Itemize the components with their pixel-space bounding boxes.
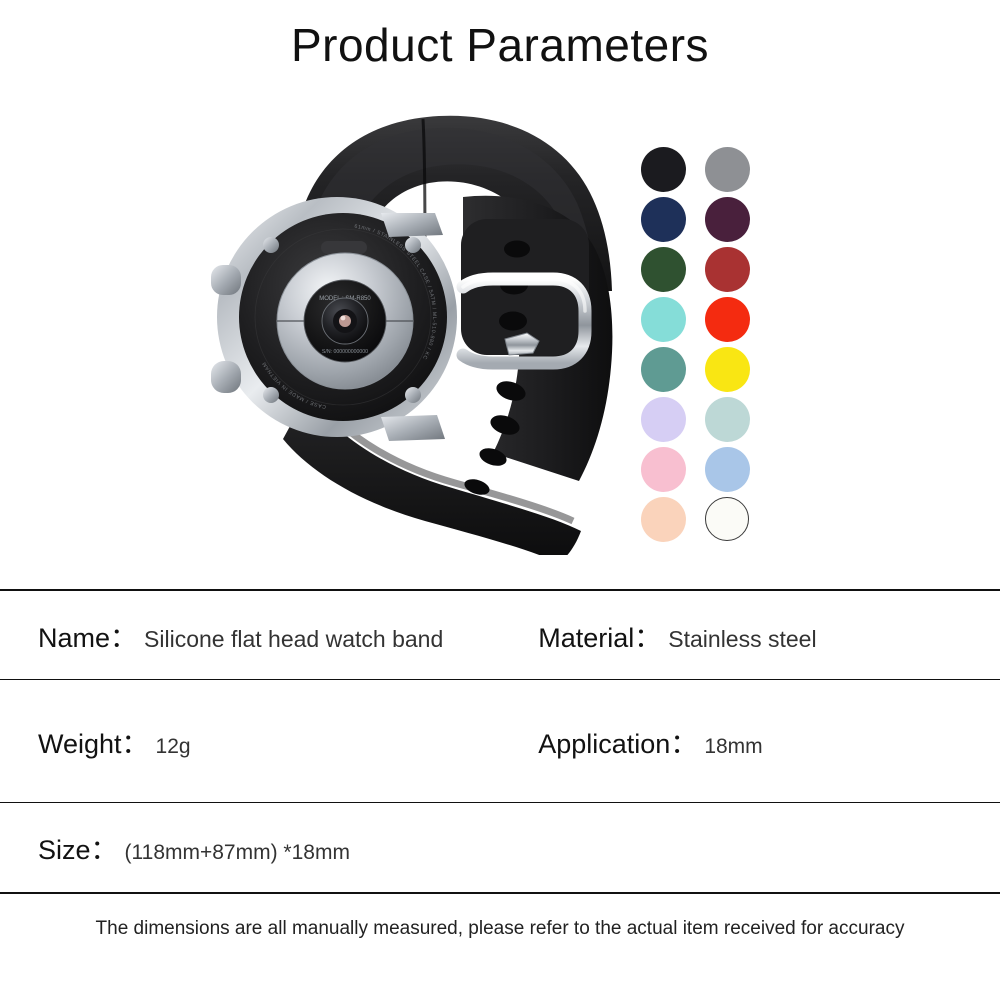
case-lug-top xyxy=(381,213,443,237)
watch-button-bottom xyxy=(211,361,241,393)
color-swatch-peach[interactable] xyxy=(641,497,686,542)
case-sensor-slot xyxy=(321,241,367,254)
color-swatch-mint-aqua[interactable] xyxy=(641,297,686,342)
color-swatch-dark-green[interactable] xyxy=(641,247,686,292)
spec-row-weight-application: Weight： 12g Application： 18mm xyxy=(0,680,1000,802)
spec-cell-weight: Weight： 12g xyxy=(0,722,538,761)
color-swatch-sea-teal[interactable] xyxy=(641,347,686,392)
divider-bottom xyxy=(0,892,1000,894)
case-screw xyxy=(263,387,279,403)
color-swatch-lavender[interactable] xyxy=(641,397,686,442)
case-screw xyxy=(405,237,421,253)
color-swatch-white[interactable] xyxy=(705,497,749,541)
spec-row-size: Size： (118mm+87mm) *18mm xyxy=(0,803,1000,892)
color-swatch-pale-cyan[interactable] xyxy=(705,397,750,442)
measurement-disclaimer: The dimensions are all manually measured… xyxy=(0,918,1000,940)
spec-label-application: Application： xyxy=(538,722,697,761)
watch-band-illustration: 61mm / STAINLESS STEEL CASE / 5ATM / ML-… xyxy=(175,95,645,555)
case-screw xyxy=(405,387,421,403)
spec-value-weight: 12g xyxy=(156,735,191,759)
product-image: 61mm / STAINLESS STEEL CASE / 5ATM / ML-… xyxy=(175,95,645,555)
spec-cell-material: Material： Stainless steel xyxy=(538,616,1000,655)
strap-hole xyxy=(504,241,530,258)
strap-hole xyxy=(499,312,527,331)
spec-label-size: Size： xyxy=(38,828,118,867)
color-swatch-plum-purple[interactable] xyxy=(705,197,750,242)
spec-cell-application: Application： 18mm xyxy=(538,722,1000,761)
spec-label-weight: Weight： xyxy=(38,722,149,761)
page-title: Product Parameters xyxy=(0,22,1000,68)
color-swatch-bright-red[interactable] xyxy=(705,297,750,342)
color-swatch-brick-red[interactable] xyxy=(705,247,750,292)
spec-table: Name： Silicone flat head watch band Mate… xyxy=(0,589,1000,894)
spec-label-name: Name： xyxy=(38,616,137,655)
color-swatch-grey[interactable] xyxy=(705,147,750,192)
spec-row-name-material: Name： Silicone flat head watch band Mate… xyxy=(0,591,1000,679)
spec-cell-size: Size： (118mm+87mm) *18mm xyxy=(0,828,558,867)
color-swatch-sky-blue[interactable] xyxy=(705,447,750,492)
color-swatch-pink[interactable] xyxy=(641,447,686,492)
color-swatch-grid[interactable] xyxy=(641,147,753,542)
watch-button-top xyxy=(211,265,241,295)
spec-value-name: Silicone flat head watch band xyxy=(144,626,443,653)
product-hero: 61mm / STAINLESS STEEL CASE / 5ATM / ML-… xyxy=(0,95,1000,565)
watch-case: 61mm / STAINLESS STEEL CASE / 5ATM / ML-… xyxy=(211,197,457,441)
color-swatch-black[interactable] xyxy=(641,147,686,192)
case-lug-bottom xyxy=(381,415,445,441)
color-swatch-yellow[interactable] xyxy=(705,347,750,392)
spec-value-size: (118mm+87mm) *18mm xyxy=(125,841,350,865)
spec-value-material: Stainless steel xyxy=(668,626,816,653)
case-serial-text: S/N: 000000000000 xyxy=(322,349,368,355)
case-screw xyxy=(263,237,279,253)
spec-value-application: 18mm xyxy=(704,735,762,759)
color-swatch-navy-blue[interactable] xyxy=(641,197,686,242)
spec-cell-name: Name： Silicone flat head watch band xyxy=(0,616,538,655)
spec-label-material: Material： xyxy=(538,616,661,655)
